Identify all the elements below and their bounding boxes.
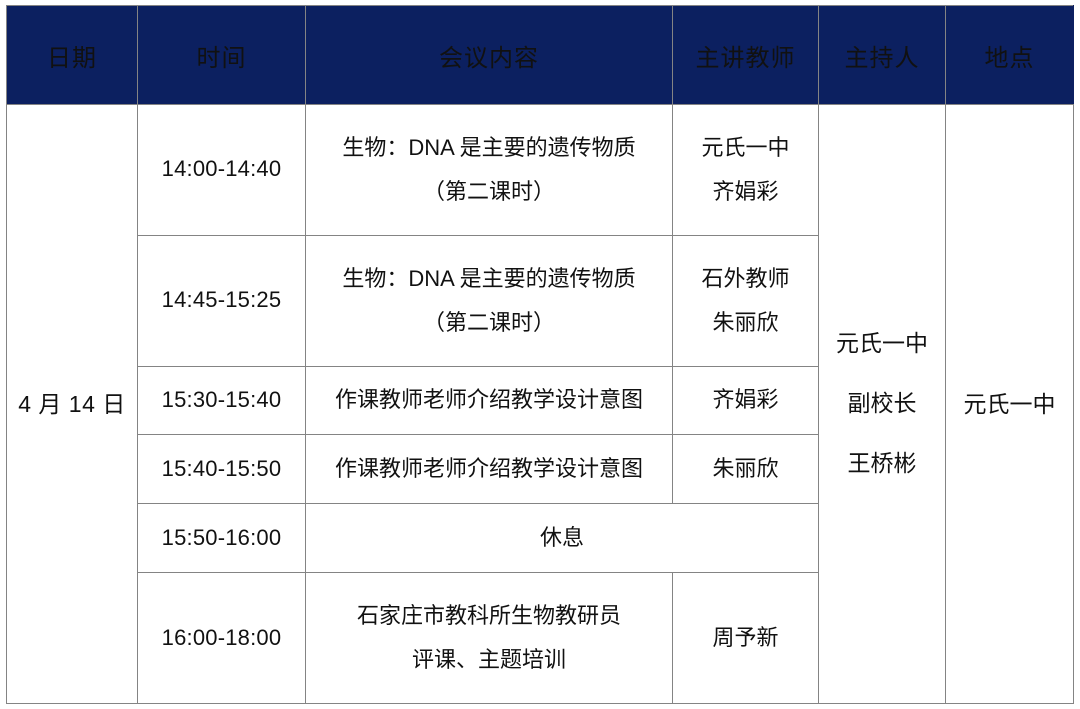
column-header-host: 主持人 bbox=[819, 6, 946, 105]
content-line-2: 评课、主题培训 bbox=[310, 638, 668, 682]
cell-content: 作课教师老师介绍教学设计意图 bbox=[306, 435, 673, 504]
meeting-schedule-table: 日期 时间 会议内容 主讲教师 主持人 地点 4 月 14 日 14:00-14… bbox=[6, 5, 1074, 704]
cell-place: 元氏一中 bbox=[946, 105, 1074, 704]
content-line-2: （第二课时） bbox=[310, 301, 668, 345]
cell-content: 作课教师老师介绍教学设计意图 bbox=[306, 366, 673, 435]
teacher-line-1: 元氏一中 bbox=[677, 126, 814, 170]
cell-time: 14:45-15:25 bbox=[138, 235, 306, 366]
cell-content: 休息 bbox=[306, 504, 819, 573]
column-header-date: 日期 bbox=[7, 6, 138, 105]
column-header-content: 会议内容 bbox=[306, 6, 673, 105]
cell-teacher: 元氏一中 齐娟彩 bbox=[673, 105, 819, 236]
content-line-1: 生物：DNA 是主要的遗传物质 bbox=[310, 257, 668, 301]
table-row: 4 月 14 日 14:00-14:40 生物：DNA 是主要的遗传物质 （第二… bbox=[7, 105, 1074, 236]
cell-content: 生物：DNA 是主要的遗传物质 （第二课时） bbox=[306, 235, 673, 366]
cell-teacher: 周予新 bbox=[673, 573, 819, 704]
table-header: 日期 时间 会议内容 主讲教师 主持人 地点 bbox=[7, 6, 1074, 105]
content-line-1: 生物：DNA 是主要的遗传物质 bbox=[310, 126, 668, 170]
cell-time: 15:40-15:50 bbox=[138, 435, 306, 504]
teacher-line-2: 朱丽欣 bbox=[677, 301, 814, 345]
column-header-teacher: 主讲教师 bbox=[673, 6, 819, 105]
column-header-time: 时间 bbox=[138, 6, 306, 105]
cell-time: 14:00-14:40 bbox=[138, 105, 306, 236]
cell-teacher: 齐娟彩 bbox=[673, 366, 819, 435]
teacher-line-1: 石外教师 bbox=[677, 257, 814, 301]
header-row: 日期 时间 会议内容 主讲教师 主持人 地点 bbox=[7, 6, 1074, 105]
teacher-line-2: 齐娟彩 bbox=[677, 170, 814, 214]
cell-teacher: 石外教师 朱丽欣 bbox=[673, 235, 819, 366]
cell-content: 石家庄市教科所生物教研员 评课、主题培训 bbox=[306, 573, 673, 704]
content-line-2: （第二课时） bbox=[310, 170, 668, 214]
cell-time: 16:00-18:00 bbox=[138, 573, 306, 704]
cell-date: 4 月 14 日 bbox=[7, 105, 138, 704]
column-header-place: 地点 bbox=[946, 6, 1074, 105]
cell-time: 15:30-15:40 bbox=[138, 366, 306, 435]
table-body: 4 月 14 日 14:00-14:40 生物：DNA 是主要的遗传物质 （第二… bbox=[7, 105, 1074, 704]
cell-host: 元氏一中 副校长 王桥彬 bbox=[819, 105, 946, 704]
host-line-3: 王桥彬 bbox=[823, 434, 941, 494]
cell-time: 15:50-16:00 bbox=[138, 504, 306, 573]
content-line-1: 石家庄市教科所生物教研员 bbox=[310, 594, 668, 638]
cell-content: 生物：DNA 是主要的遗传物质 （第二课时） bbox=[306, 105, 673, 236]
cell-teacher: 朱丽欣 bbox=[673, 435, 819, 504]
host-line-1: 元氏一中 bbox=[823, 314, 941, 374]
host-line-2: 副校长 bbox=[823, 374, 941, 434]
schedule-sheet: 日期 时间 会议内容 主讲教师 主持人 地点 4 月 14 日 14:00-14… bbox=[0, 0, 1080, 709]
